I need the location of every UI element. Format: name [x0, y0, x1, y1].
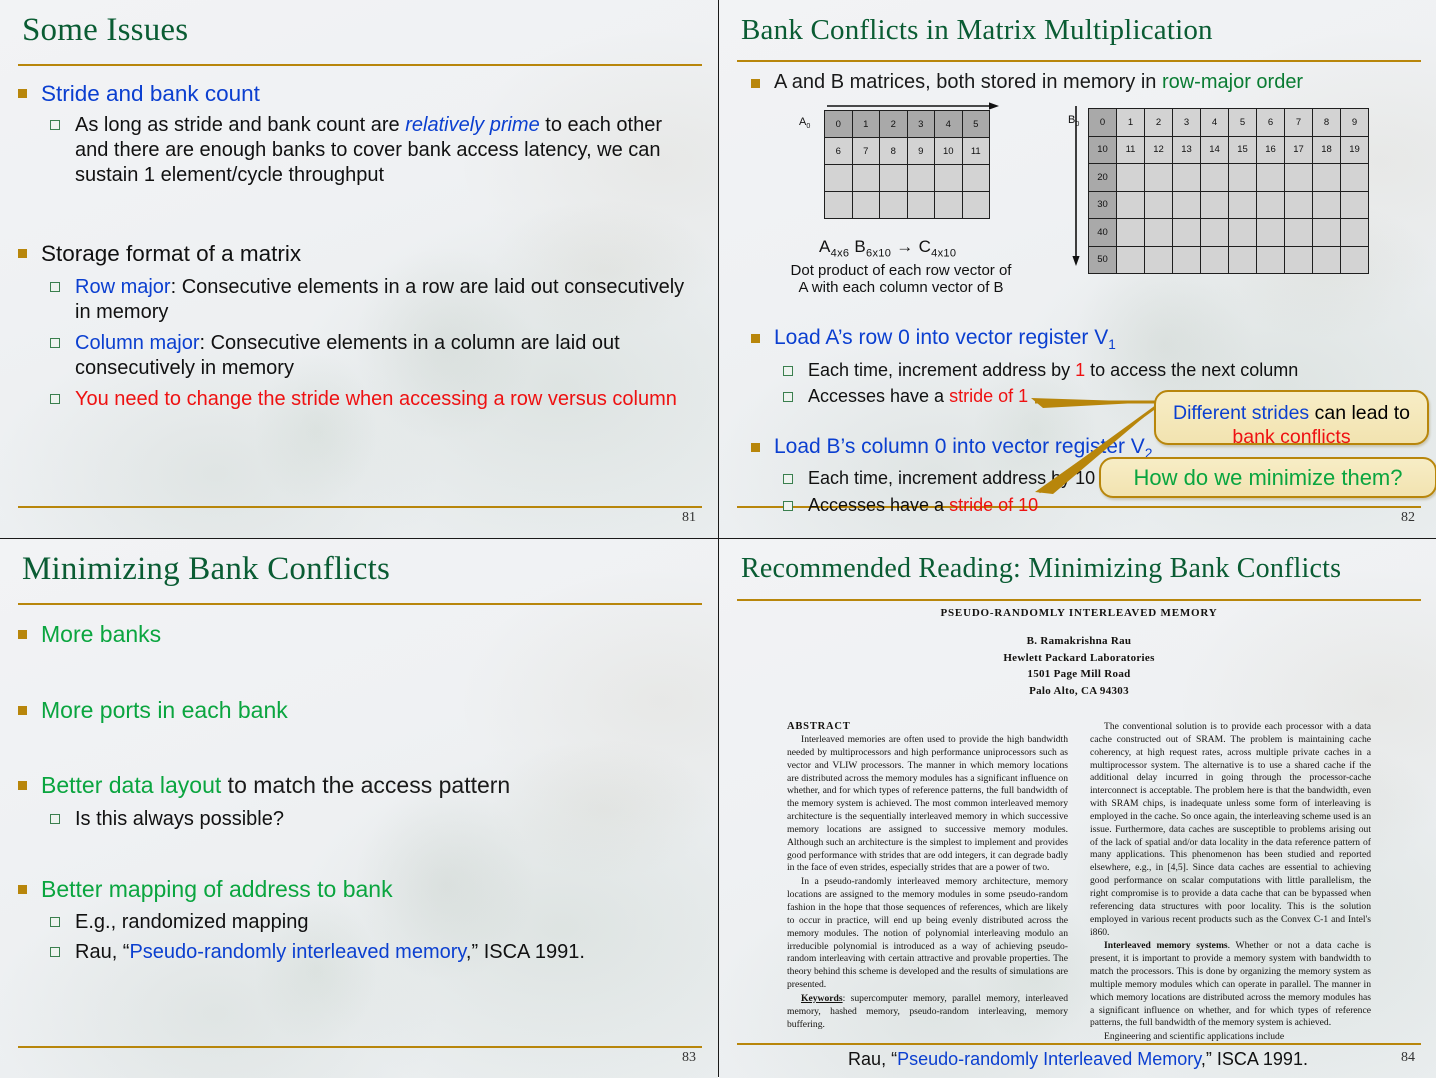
matrix-cell [1313, 191, 1341, 219]
sub-highlight: 1 [1075, 360, 1085, 380]
list-item: Is this always possible? [41, 807, 700, 832]
caption-pre: Rau, “ [848, 1049, 897, 1069]
matrix-cell [1313, 246, 1341, 274]
matrix-cell: 40 [1089, 219, 1117, 247]
matrix-cell [852, 192, 880, 219]
slide-deck: Some Issues 81 Stride and bank count As … [0, 0, 1436, 1077]
paper-title: PSEUDO-RANDOMLY INTERLEAVED MEMORY [729, 607, 1429, 619]
slide-81: Some Issues 81 Stride and bank count As … [0, 0, 718, 538]
page-title: Bank Conflicts in Matrix Multiplication [741, 14, 1419, 47]
sub-post: to access the next column [1085, 360, 1298, 380]
matrix-cell [1117, 219, 1145, 247]
paper-author: B. Ramakrishna Rau [729, 633, 1429, 650]
matrix-cell: 8 [1313, 109, 1341, 137]
matrix-cell: 13 [1173, 136, 1201, 164]
bullet-list: Stride and bank count As long as stride … [10, 80, 700, 412]
matrix-cell: 6 [825, 138, 853, 165]
title-divider [737, 60, 1421, 62]
sub-pre: Each time, increment address by [808, 360, 1075, 380]
matrix-cell: 7 [852, 138, 880, 165]
matrix-cell [1173, 191, 1201, 219]
matrix-cell: 8 [880, 138, 908, 165]
slide-82: Bank Conflicts in Matrix Multiplication … [719, 0, 1436, 538]
sub-text-emphasis: relatively prime [405, 114, 539, 136]
section-lead-in: Interleaved memory systems [1104, 940, 1228, 951]
matrix-cell: 2 [880, 111, 908, 138]
eq-b-sub: 6x10 [866, 247, 891, 259]
matrix-cell [1257, 246, 1285, 274]
matrix-cell [1201, 164, 1229, 192]
bullet-text-highlight: row-major order [1162, 71, 1303, 93]
column-direction-arrow-icon [1071, 106, 1081, 266]
matrix-cell: 0 [1089, 109, 1117, 137]
matrix-row: 0123456789 [1089, 109, 1369, 137]
footer-divider [18, 1046, 702, 1048]
caption-line-2: A with each column vector of B [771, 279, 1031, 296]
matrix-cell [1341, 219, 1369, 247]
matrix-cell [1201, 219, 1229, 247]
matrix-row: 30 [1089, 191, 1369, 219]
matrix-b-label: B0 [1068, 114, 1079, 128]
bullet-label: Better mapping of address to bank [41, 876, 393, 902]
matrix-cell: 30 [1089, 191, 1117, 219]
caption-post: ,” ISCA 1991. [1201, 1049, 1308, 1069]
slide-83: Minimizing Bank Conflicts 83 More banks … [0, 539, 718, 1078]
matrix-cell: 15 [1229, 136, 1257, 164]
matrix-a-table: 01234567891011 [824, 110, 990, 219]
matrix-row: 10111213141516171819 [1089, 136, 1369, 164]
title-divider [18, 64, 702, 66]
matrix-cell [1285, 246, 1313, 274]
list-item: Row major: Consecutive elements in a row… [41, 275, 700, 325]
matrix-cell [1229, 191, 1257, 219]
sub-lead: Row major [75, 276, 171, 298]
matrix-cell [1285, 191, 1313, 219]
callout-highlight-red: bank conflicts [1232, 426, 1350, 448]
matrix-cell: 20 [1089, 164, 1117, 192]
matrix-cell: 6 [1257, 109, 1285, 137]
list-item: Rau, “Pseudo-randomly interleaved memory… [41, 940, 700, 965]
paper-affiliation: Hewlett Packard Laboratories [729, 650, 1429, 667]
matrix-cell [1229, 219, 1257, 247]
matrix-cell [1341, 191, 1369, 219]
eq-a-sub: 4x6 [831, 247, 850, 259]
list-item: More banks [10, 621, 700, 649]
callout-different-strides: Different strides can lead to bank confl… [1154, 390, 1429, 445]
matrix-cell [1257, 219, 1285, 247]
eq-c-sub: 4x10 [931, 247, 956, 259]
bullet-list: A and B matrices, both stored in memory … [743, 70, 1425, 94]
matrix-cell: 5 [1229, 109, 1257, 137]
sub-bullet-list: Is this always possible? [41, 807, 700, 832]
page-title: Some Issues [22, 12, 700, 49]
matrix-cell: 16 [1257, 136, 1285, 164]
matrix-cell: 7 [1285, 109, 1313, 137]
matrix-row: 012345 [825, 111, 990, 138]
matrix-cell: 0 [825, 111, 853, 138]
matrix-cell [1257, 191, 1285, 219]
list-item: As long as stride and bank count are rel… [41, 113, 700, 188]
matrix-cell: 17 [1285, 136, 1313, 164]
matrix-cell: 9 [1341, 109, 1369, 137]
matrix-cell [1257, 164, 1285, 192]
callout-question-text: How do we minimize them? [1134, 465, 1403, 490]
matrix-cell: 50 [1089, 246, 1117, 274]
matrix-cell [1229, 164, 1257, 192]
matrix-cell: 18 [1313, 136, 1341, 164]
list-item: Better data layout to match the access p… [10, 772, 700, 832]
footer-divider [18, 506, 702, 508]
bullet-text-pre: A and B matrices, both stored in memory … [774, 71, 1162, 93]
title-divider [737, 599, 1421, 601]
bullet-label: Stride and bank count [41, 81, 260, 106]
eq-arrow: → [896, 237, 913, 256]
sub-warning-text: You need to change the stride when acces… [75, 388, 677, 410]
bullet-label: Better data layout [41, 772, 221, 798]
matrix-row [825, 192, 990, 219]
matrix-cell: 11 [962, 138, 990, 165]
matrix-cell [1145, 246, 1173, 274]
matrix-cell [1285, 164, 1313, 192]
matrix-cell [962, 192, 990, 219]
matrix-row: 50 [1089, 246, 1369, 274]
matrix-cell: 14 [1201, 136, 1229, 164]
list-item: A and B matrices, both stored in memory … [743, 70, 1425, 94]
matrix-cell [907, 192, 935, 219]
bullet-label: Storage format of a matrix [41, 241, 301, 266]
matrix-cell: 4 [935, 111, 963, 138]
paper-columns: ABSTRACT Interleaved memories are often … [729, 721, 1429, 1045]
body-paragraph: The conventional solution is to provide … [1090, 721, 1371, 939]
eq-a: A [819, 237, 831, 256]
matrix-cell [1117, 246, 1145, 274]
list-item: Stride and bank count As long as stride … [10, 80, 700, 188]
sub-bullet-list: As long as stride and bank count are rel… [41, 113, 700, 188]
matrix-cell: 10 [935, 138, 963, 165]
page-title: Recommended Reading: Minimizing Bank Con… [741, 553, 1419, 585]
eq-b: B [854, 237, 866, 256]
sub-post: ,” ISCA 1991. [466, 941, 585, 963]
matrix-cell: 19 [1341, 136, 1369, 164]
callout-text: can lead to [1309, 402, 1410, 424]
matrix-cell: 3 [1173, 109, 1201, 137]
matrix-cell: 1 [852, 111, 880, 138]
paper-left-column: ABSTRACT Interleaved memories are often … [787, 721, 1068, 1045]
page-number: 83 [682, 1050, 696, 1066]
matrix-row: 20 [1089, 164, 1369, 192]
matrix-cell [1313, 219, 1341, 247]
list-item: Storage format of a matrix Row major: Co… [10, 240, 700, 412]
matrix-cell [1145, 164, 1173, 192]
matrix-diagram: A0 01234567891011 B0 0123456789101112131… [719, 100, 1436, 315]
matrix-cell [1229, 246, 1257, 274]
matrix-cell: 11 [1117, 136, 1145, 164]
footer-divider-2 [737, 1043, 1421, 1045]
matrix-cell [1313, 164, 1341, 192]
bullet-label: More banks [41, 621, 161, 647]
paper-title-link[interactable]: Pseudo-randomly interleaved memory [129, 941, 465, 963]
slide-caption: Rau, “Pseudo-randomly Interleaved Memory… [719, 1049, 1436, 1070]
matrix-cell [962, 165, 990, 192]
callout-minimize-question: How do we minimize them? [1099, 457, 1436, 498]
matrix-cell [935, 192, 963, 219]
abstract-paragraph: In a pseudo-randomly interleaved memory … [787, 876, 1068, 992]
matrix-cell [1201, 191, 1229, 219]
matrix-cell [1145, 219, 1173, 247]
matrix-cell [880, 165, 908, 192]
matrix-cell: 10 [1089, 136, 1117, 164]
callout-highlight-blue: Different strides [1173, 402, 1309, 424]
abstract-heading: ABSTRACT [787, 721, 1068, 732]
page-number: 81 [682, 510, 696, 526]
list-item: More ports in each bank [10, 697, 700, 725]
matrix-cell: 9 [907, 138, 935, 165]
matrix-a-label: A0 [799, 116, 810, 130]
matrix-cell: 12 [1145, 136, 1173, 164]
bullet-label-sub: 1 [1108, 337, 1116, 352]
matrix-cell [825, 165, 853, 192]
caption-line-1: Dot product of each row vector of [771, 262, 1031, 279]
matrix-cell [1201, 246, 1229, 274]
matrix-cell [825, 192, 853, 219]
matrix-row: 67891011 [825, 138, 990, 165]
matrix-cell [1285, 219, 1313, 247]
matrix-b-subscript: 0 [1075, 120, 1079, 128]
matrix-cell: 2 [1145, 109, 1173, 137]
matrix-cell [1341, 164, 1369, 192]
bullet-list: More banks More ports in each bank Bette… [10, 621, 700, 965]
matrix-cell [1117, 164, 1145, 192]
section-body: . Whether or not a data cache is present… [1090, 940, 1371, 1028]
matrix-cell [852, 165, 880, 192]
matrix-cell [1173, 246, 1201, 274]
page-title: Minimizing Bank Conflicts [22, 551, 700, 588]
sub-pre: Accesses have a [808, 386, 949, 406]
list-item: You need to change the stride when acces… [41, 387, 700, 412]
sub-bullet-list: E.g., randomized mapping Rau, “Pseudo-ra… [41, 910, 700, 965]
keywords-label: Keywords [801, 993, 843, 1004]
matrix-cell: 1 [1117, 109, 1145, 137]
matrix-cell [880, 192, 908, 219]
sub-pre: Rau, “ [75, 941, 129, 963]
list-item: Each time, increment address by 1 to acc… [774, 359, 1425, 382]
body-paragraph: Interleaved memory systems. Whether or n… [1090, 940, 1371, 1030]
matrix-cell [1173, 164, 1201, 192]
sub-text-pre: As long as stride and bank count are [75, 114, 405, 136]
bullet-label-rest: to match the access pattern [221, 772, 510, 798]
list-item: Column major: Consecutive elements in a … [41, 331, 700, 381]
list-item: Better mapping of address to bank E.g., … [10, 876, 700, 966]
sub-bullet-list: Row major: Consecutive elements in a row… [41, 275, 700, 412]
title-divider [18, 603, 702, 605]
matrix-b-table: 01234567891011121314151617181920304050 [1088, 108, 1369, 274]
abstract-paragraph: Interleaved memories are often used to p… [787, 734, 1068, 875]
paper-address-line-2: Palo Alto, CA 94303 [729, 683, 1429, 700]
matrix-cell [1145, 191, 1173, 219]
keywords-paragraph: Keywords: supercomputer memory, parallel… [787, 993, 1068, 1032]
diagram-caption: Dot product of each row vector of A with… [771, 262, 1031, 297]
paper-author-block: B. Ramakrishna Rau Hewlett Packard Labor… [729, 633, 1429, 699]
matrix-cell [907, 165, 935, 192]
list-item: E.g., randomized mapping [41, 910, 700, 935]
sub-lead: Column major [75, 332, 199, 354]
matrix-cell: 3 [907, 111, 935, 138]
bullet-label: More ports in each bank [41, 697, 288, 723]
matrix-cell [1117, 191, 1145, 219]
matrix-cell [935, 165, 963, 192]
matrix-row: 40 [1089, 219, 1369, 247]
paper-title-link[interactable]: Pseudo-randomly Interleaved Memory [897, 1049, 1201, 1069]
eq-c: C [919, 237, 932, 256]
bullet-label: Load A’s row 0 into vector register V [774, 326, 1108, 349]
matrix-cell: 5 [962, 111, 990, 138]
paper-right-column: The conventional solution is to provide … [1090, 721, 1371, 1045]
matrix-cell [1173, 219, 1201, 247]
matrix-equation: A4x6 B6x10 → C4x10 [819, 237, 956, 259]
matrix-a-subscript: 0 [806, 122, 810, 130]
matrix-row [825, 165, 990, 192]
sub-pre: Accesses have a [808, 495, 949, 515]
matrix-cell [1341, 246, 1369, 274]
paper-scan: PSEUDO-RANDOMLY INTERLEAVED MEMORY B. Ra… [729, 607, 1429, 1039]
matrix-cell: 4 [1201, 109, 1229, 137]
paper-address-line-1: 1501 Page Mill Road [729, 666, 1429, 683]
slide-84: Recommended Reading: Minimizing Bank Con… [719, 539, 1436, 1078]
